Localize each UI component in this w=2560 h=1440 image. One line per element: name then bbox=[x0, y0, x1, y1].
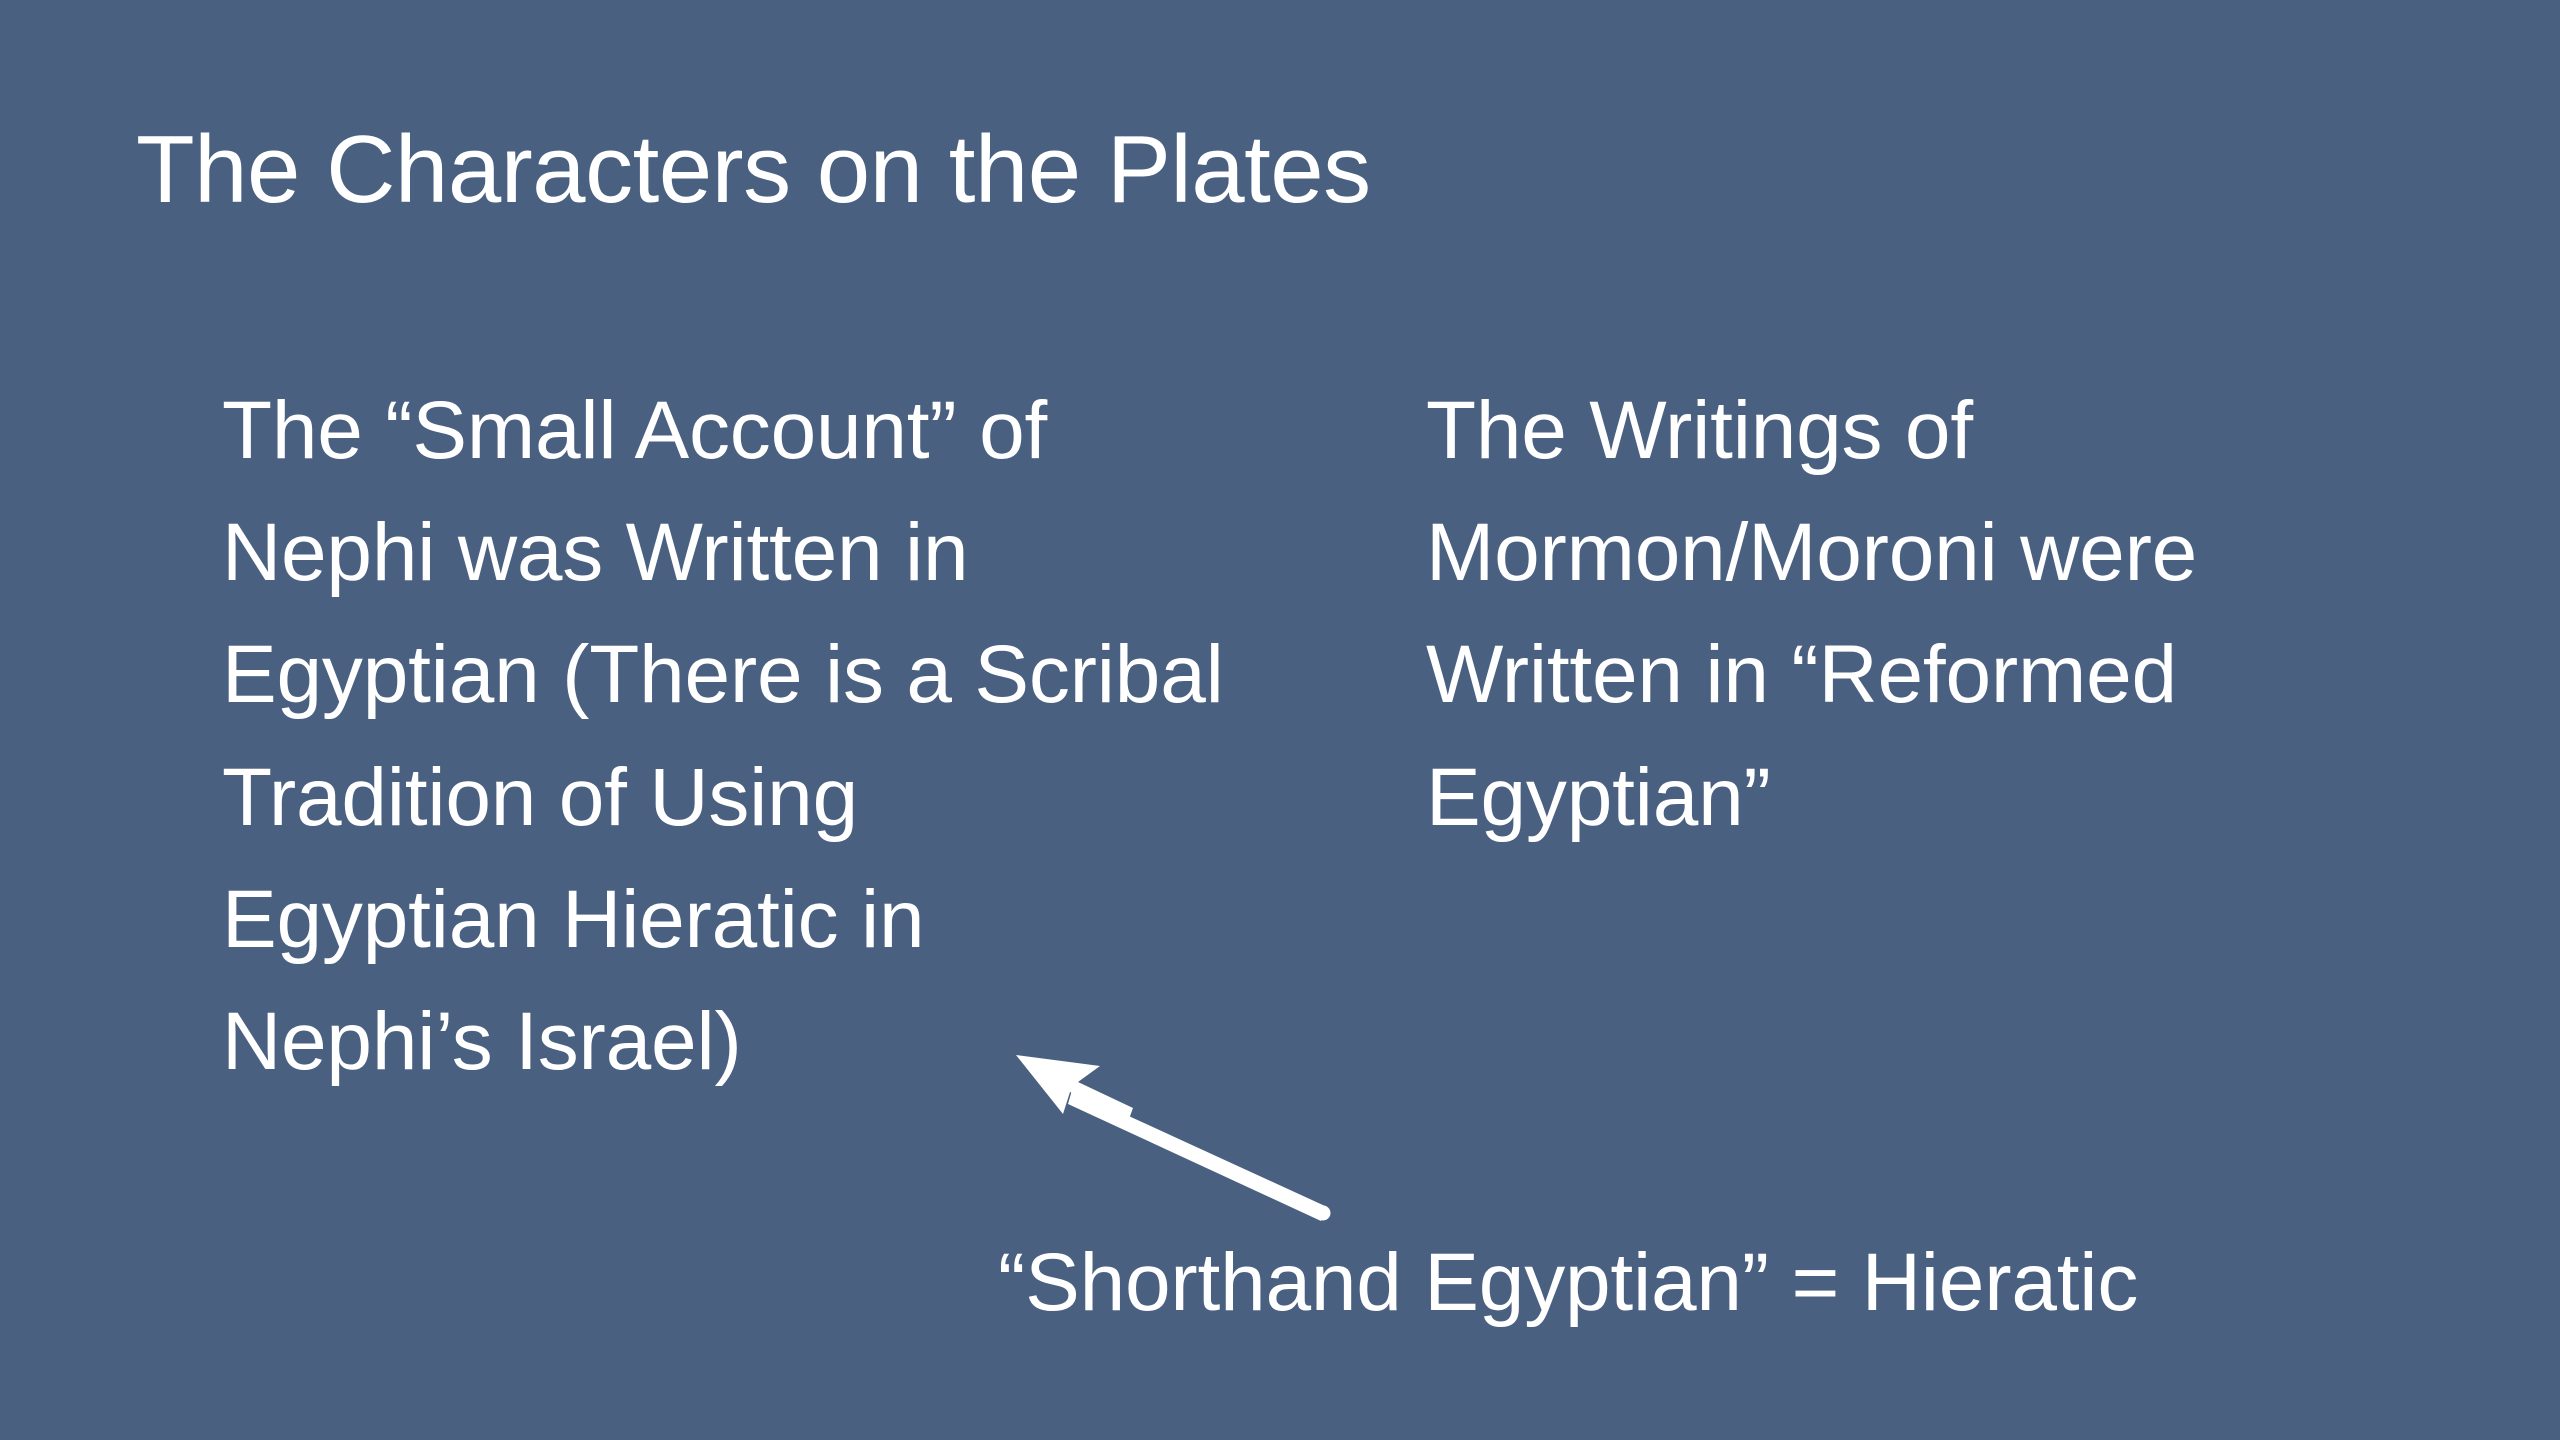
text-line: Written in “Reformed bbox=[1426, 614, 2436, 736]
text-line: The “Small Account” of bbox=[222, 370, 1362, 492]
text-line: Nephi’s Israel) bbox=[222, 981, 1362, 1103]
text-line: Egyptian Hieratic in bbox=[222, 859, 1362, 981]
text-line: Tradition of Using bbox=[222, 737, 1362, 859]
page-title: The Characters on the Plates bbox=[136, 116, 2336, 224]
slide-canvas: The Characters on the Plates The “Small … bbox=[0, 0, 2560, 1440]
caption-shorthand-egyptian: “Shorthand Egyptian” = Hieratic bbox=[998, 1230, 2138, 1337]
text-line: Nephi was Written in bbox=[222, 492, 1362, 614]
text-line: Mormon/Moroni were bbox=[1426, 492, 2436, 614]
text-column-left: The “Small Account” of Nephi was Written… bbox=[222, 370, 1362, 1103]
text-line: Egyptian” bbox=[1426, 737, 2436, 859]
text-line: Egyptian (There is a Scribal bbox=[222, 614, 1362, 736]
text-column-right: The Writings of Mormon/Moroni were Writt… bbox=[1426, 370, 2436, 859]
text-line: The Writings of bbox=[1426, 370, 2436, 492]
